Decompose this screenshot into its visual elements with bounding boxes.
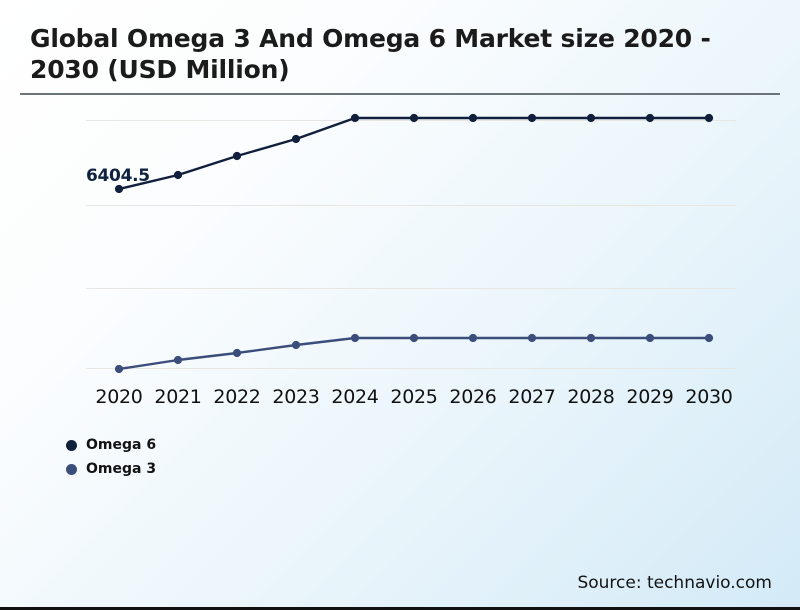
page-title: Global Omega 3 And Omega 6 Market size 2… [30,24,730,86]
data-point-marker [469,114,477,122]
data-point-marker [705,114,713,122]
data-point-marker [233,349,241,357]
x-axis-tick-2024: 2024 [322,386,388,408]
x-axis-tick-2025: 2025 [381,386,447,408]
x-axis-tick-2020: 2020 [86,386,152,408]
data-point-marker [469,334,477,342]
chart-legend: Omega 6Omega 3 [66,433,156,481]
series-line [119,118,709,189]
data-point-marker [115,365,123,373]
data-point-marker [292,341,300,349]
data-point-marker [646,334,654,342]
data-point-marker [351,114,359,122]
x-axis-tick-2029: 2029 [617,386,683,408]
data-label-first-point: 6404.5 [86,166,150,186]
data-point-marker [587,334,595,342]
data-point-marker [174,356,182,364]
x-axis-tick-2023: 2023 [263,386,329,408]
legend-label: Omega 3 [86,461,156,477]
data-point-marker [233,152,241,160]
x-axis-tick-2026: 2026 [440,386,506,408]
data-point-marker [705,334,713,342]
legend-item-omega-6[interactable]: Omega 6 [66,433,156,457]
x-axis-tick-2022: 2022 [204,386,270,408]
x-axis-tick-2021: 2021 [145,386,211,408]
legend-label: Omega 6 [86,437,156,453]
data-point-marker [410,114,418,122]
x-axis-tick-2028: 2028 [558,386,624,408]
data-point-marker [528,114,536,122]
x-axis-tick-2027: 2027 [499,386,565,408]
data-point-marker [587,114,595,122]
data-point-marker [410,334,418,342]
line-chart-svg [86,105,736,380]
chart-plot-area [86,105,736,380]
legend-swatch-icon [66,440,77,451]
legend-item-omega-3[interactable]: Omega 3 [66,457,156,481]
legend-swatch-icon [66,464,77,475]
x-axis-tick-labels: 2020202120222023202420252026202720282029… [86,386,736,412]
source-attribution: Source: technavio.com [577,573,772,593]
title-divider [20,93,780,95]
data-point-marker [646,114,654,122]
data-point-marker [528,334,536,342]
data-point-marker [174,171,182,179]
data-point-marker [115,185,123,193]
data-point-marker [292,135,300,143]
x-axis-tick-2030: 2030 [676,386,742,408]
series-line [119,338,709,369]
data-point-marker [351,334,359,342]
